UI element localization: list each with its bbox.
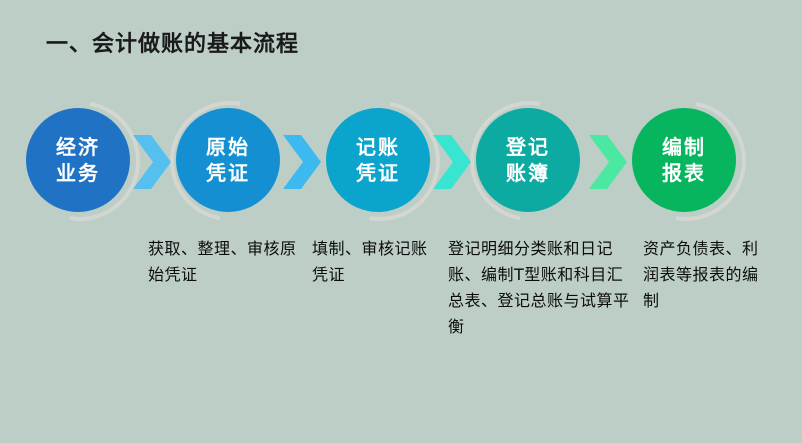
node-label-line2: 账簿 (506, 160, 550, 186)
desc-accounting-voucher: 填制、审核记账凭证 (312, 236, 432, 288)
node-label-line2: 业务 (56, 160, 100, 186)
chevron-right-icon (283, 135, 323, 189)
node-original-voucher-circle[interactable]: 原始凭证 (176, 108, 280, 212)
chevron-right-icon (589, 135, 629, 189)
node-label-line1: 编制 (662, 134, 706, 160)
node-economic-business[interactable]: 经济业务 (16, 98, 144, 226)
node-accounting-voucher[interactable]: 记账凭证 (316, 98, 444, 226)
node-register-books[interactable]: 登记账簿 (466, 98, 594, 226)
node-label-line1: 记账 (356, 134, 400, 160)
desc-prepare-statements: 资产负债表、利润表等报表的编制 (643, 236, 773, 314)
node-register-books-circle[interactable]: 登记账簿 (476, 108, 580, 212)
node-prepare-statements[interactable]: 编制报表 (622, 98, 750, 226)
desc-original-voucher: 获取、整理、审核原始凭证 (148, 236, 298, 288)
node-economic-business-circle[interactable]: 经济业务 (26, 108, 130, 212)
chevron-right-icon (433, 135, 473, 189)
flow-diagram: 经济业务原始凭证记账凭证登记账簿编制报表 (0, 98, 802, 226)
chevron-right-icon (133, 135, 173, 189)
desc-register-books: 登记明细分类账和日记账、编制T型账和科目汇总表、登记总账与试算平衡 (448, 236, 633, 340)
node-label-line1: 登记 (506, 134, 550, 160)
node-accounting-voucher-circle[interactable]: 记账凭证 (326, 108, 430, 212)
node-label-line1: 经济 (56, 134, 100, 160)
node-prepare-statements-circle[interactable]: 编制报表 (632, 108, 736, 212)
node-label-line2: 报表 (662, 160, 706, 186)
page-title: 一、会计做账的基本流程 (46, 26, 299, 58)
node-label-line2: 凭证 (206, 160, 250, 186)
node-label-line1: 原始 (206, 134, 250, 160)
node-label-line2: 凭证 (356, 160, 400, 186)
node-original-voucher[interactable]: 原始凭证 (166, 98, 294, 226)
